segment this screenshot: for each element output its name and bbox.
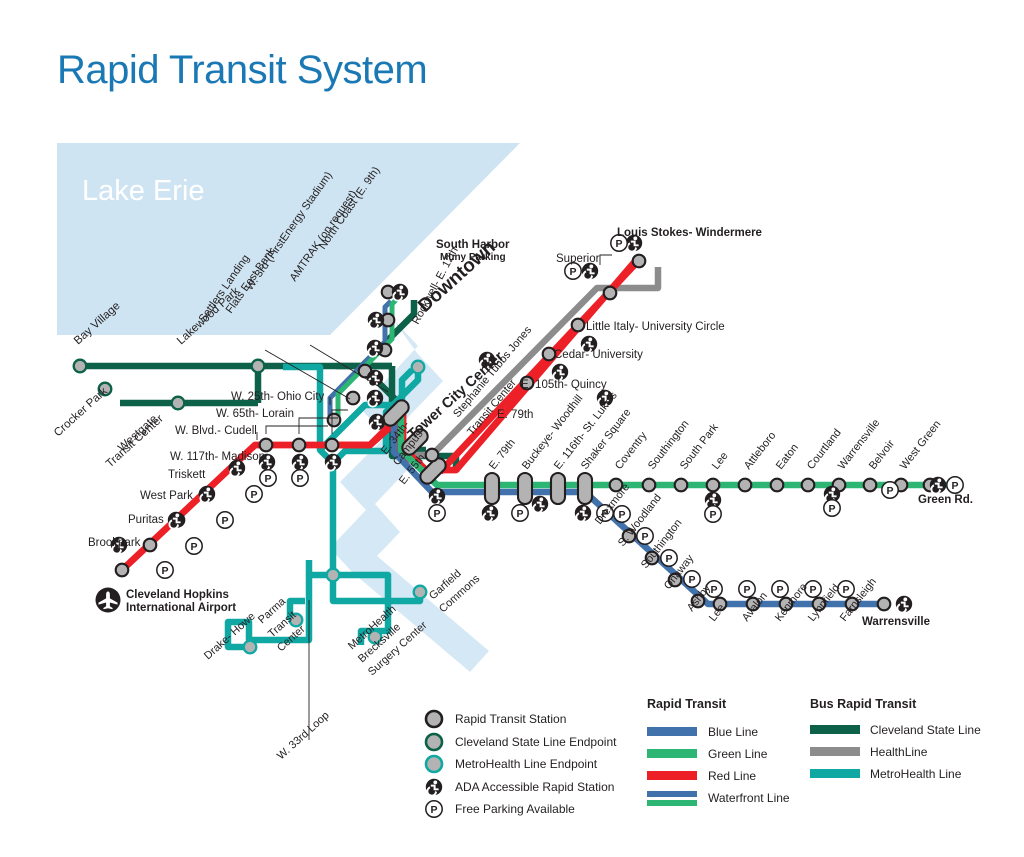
- svg-text:Belvoir: Belvoir: [867, 438, 897, 472]
- legend-rt-label-0: Blue Line: [708, 725, 758, 739]
- svg-text:W. 25th- Ohio City: W. 25th- Ohio City: [231, 391, 325, 403]
- svg-text:Coventry: Coventry: [613, 429, 650, 471]
- svg-text:Cedar- University: Cedar- University: [554, 349, 643, 361]
- legend-swatch-metrohealth-line: [810, 769, 860, 778]
- legend-rapid-transit-heading: Rapid Transit: [647, 697, 727, 711]
- svg-text:Green Rd.: Green Rd.: [918, 494, 973, 506]
- legend-symbol-rapid-transit-station: [426, 711, 442, 727]
- legend-symbols: Rapid Transit Station Cleveland State Li…: [426, 711, 617, 817]
- svg-text:W. 65th- Lorain: W. 65th- Lorain: [216, 408, 294, 420]
- legend: Rapid Transit Station Cleveland State Li…: [426, 697, 981, 817]
- lake-erie-label: Lake Erie: [82, 175, 205, 207]
- svg-text:Buckeye- Woodhill: Buckeye- Woodhill: [520, 393, 585, 472]
- svg-text:Warrensville: Warrensville: [862, 616, 930, 628]
- svg-text:West Green: West Green: [898, 418, 943, 471]
- legend-bus-rapid-transit: Bus Rapid Transit Cleveland State Line H…: [810, 697, 981, 781]
- legend-symbol-cleveland-state-endpoint: [426, 734, 442, 750]
- svg-text:Crocker Park: Crocker Park: [52, 385, 110, 439]
- legend-rt-label-2: Red Line: [708, 769, 756, 783]
- svg-text:Brookpark: Brookpark: [88, 537, 141, 549]
- legend-swatch-green-line: [647, 749, 697, 758]
- legend-brt-label-1: HealthLine: [870, 745, 928, 759]
- svg-text:W. Blvd.- Cudell: W. Blvd.- Cudell: [175, 425, 257, 437]
- svg-text:West Park: West Park: [140, 490, 193, 502]
- transit-map: P Lake Erie: [0, 0, 1024, 857]
- legend-symbol-free-parking: [426, 801, 442, 817]
- legend-swatch-blue-line: [647, 727, 697, 736]
- legend-rapid-transit: Rapid Transit Blue Line Green Line Red L…: [647, 697, 790, 806]
- legend-symbol-label-0: Rapid Transit Station: [455, 712, 566, 726]
- legend-swatch-healthline: [810, 747, 860, 756]
- legend-symbol-metrohealth-endpoint: [426, 756, 442, 772]
- legend-swatch-waterfront-green: [647, 800, 697, 806]
- legend-brt-label-2: MetroHealth Line: [870, 767, 962, 781]
- svg-text:Transit Center: Transit Center: [104, 413, 166, 470]
- airport-icon: [96, 588, 121, 613]
- svg-text:Triskett: Triskett: [168, 469, 206, 481]
- svg-text:Attleboro: Attleboro: [742, 430, 779, 472]
- legend-rt-label-1: Green Line: [708, 747, 768, 761]
- legend-swatch-red-line: [647, 771, 697, 780]
- svg-text:E. 79th: E. 79th: [487, 437, 518, 472]
- legend-swatch-cleveland-state-line: [810, 725, 860, 734]
- legend-symbol-label-3: ADA Accessible Rapid Station: [455, 780, 614, 794]
- legend-symbol-label-2: MetroHealth Line Endpoint: [455, 757, 598, 771]
- svg-text:Louis Stokes- Windermere: Louis Stokes- Windermere: [617, 227, 762, 239]
- svg-text:E. 105th- Quincy: E. 105th- Quincy: [521, 379, 607, 391]
- legend-swatch-waterfront-blue: [647, 791, 697, 797]
- svg-text:Puritas: Puritas: [128, 514, 164, 526]
- svg-text:E. 79th: E. 79th: [497, 409, 533, 421]
- legend-symbol-ada-accessible: [426, 779, 442, 797]
- legend-brt-heading: Bus Rapid Transit: [810, 697, 917, 711]
- legend-symbol-label-4: Free Parking Available: [455, 802, 575, 816]
- svg-text:Eaton: Eaton: [774, 442, 801, 472]
- legend-symbol-label-1: Cleveland State Line Endpoint: [455, 735, 617, 749]
- legend-brt-label-0: Cleveland State Line: [870, 723, 981, 737]
- svg-text:Superior: Superior: [556, 253, 600, 265]
- svg-text:Little Italy- University Circl: Little Italy- University Circle: [586, 321, 725, 333]
- svg-text:W. 33rd Loop: W. 33rd Loop: [275, 710, 332, 763]
- svg-text:W. 117th- Madison: W. 117th- Madison: [170, 451, 265, 463]
- airport-label-line1: Cleveland Hopkins: [126, 589, 229, 601]
- svg-text:Lee: Lee: [710, 450, 731, 472]
- legend-rt-label-3: Waterfront Line: [708, 791, 790, 805]
- airport-label-line2: International Airport: [126, 602, 236, 614]
